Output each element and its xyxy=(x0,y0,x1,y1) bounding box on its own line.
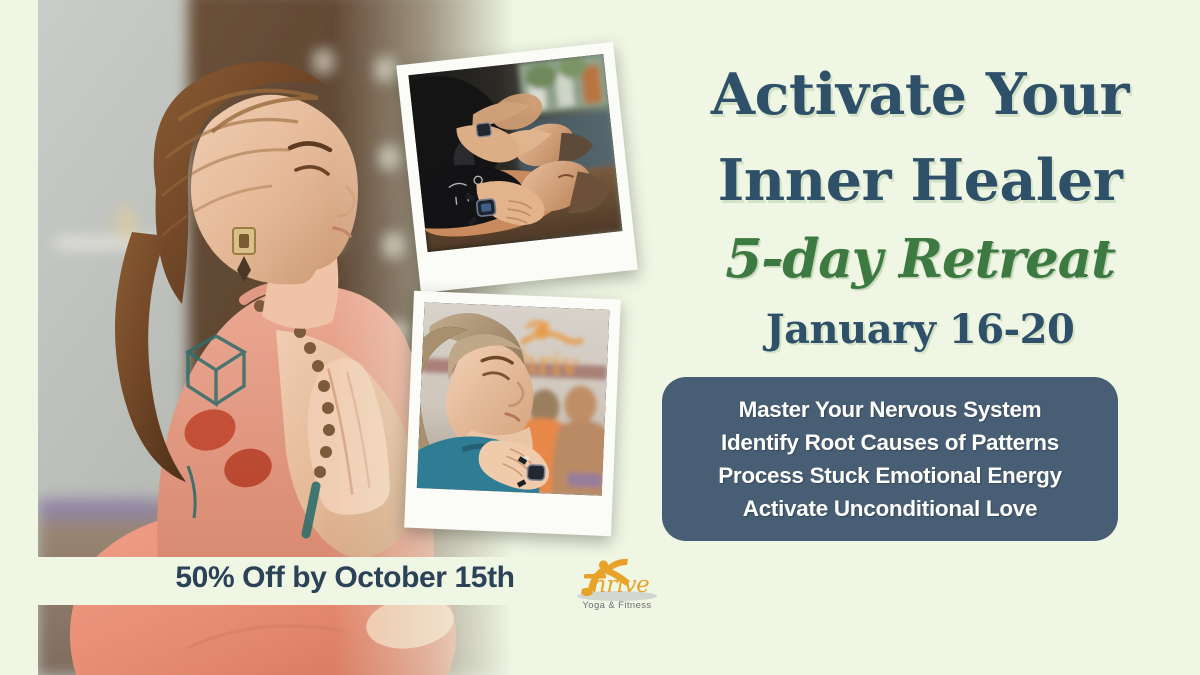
benefit-item: Process Stuck Emotional Energy xyxy=(676,459,1104,492)
headline-line-2: Inner Healer xyxy=(640,152,1200,209)
thrive-logo: hrive Yoga & Fitness xyxy=(562,556,672,614)
headline-line-1: Activate Your xyxy=(640,66,1200,123)
offer-text: 50% Off by October 15th xyxy=(110,561,580,595)
benefits-box: Master Your Nervous System Identify Root… xyxy=(662,377,1118,541)
polaroid-bottom-image: hriv xyxy=(417,302,610,496)
svg-text:Yoga & Fitness: Yoga & Fitness xyxy=(582,600,651,611)
retreat-dates: January 16-20 xyxy=(640,306,1200,353)
polaroid-top-image xyxy=(408,54,622,252)
benefit-item: Master Your Nervous System xyxy=(676,393,1104,426)
retreat-subtitle: 5-day Retreat xyxy=(640,228,1200,290)
poster-canvas: hriv xyxy=(0,0,1200,675)
benefit-item: Activate Unconditional Love xyxy=(676,492,1104,525)
benefit-item: Identify Root Causes of Patterns xyxy=(676,426,1104,459)
polaroid-photo-top xyxy=(396,42,637,293)
polaroid-photo-bottom: hriv xyxy=(404,291,621,536)
